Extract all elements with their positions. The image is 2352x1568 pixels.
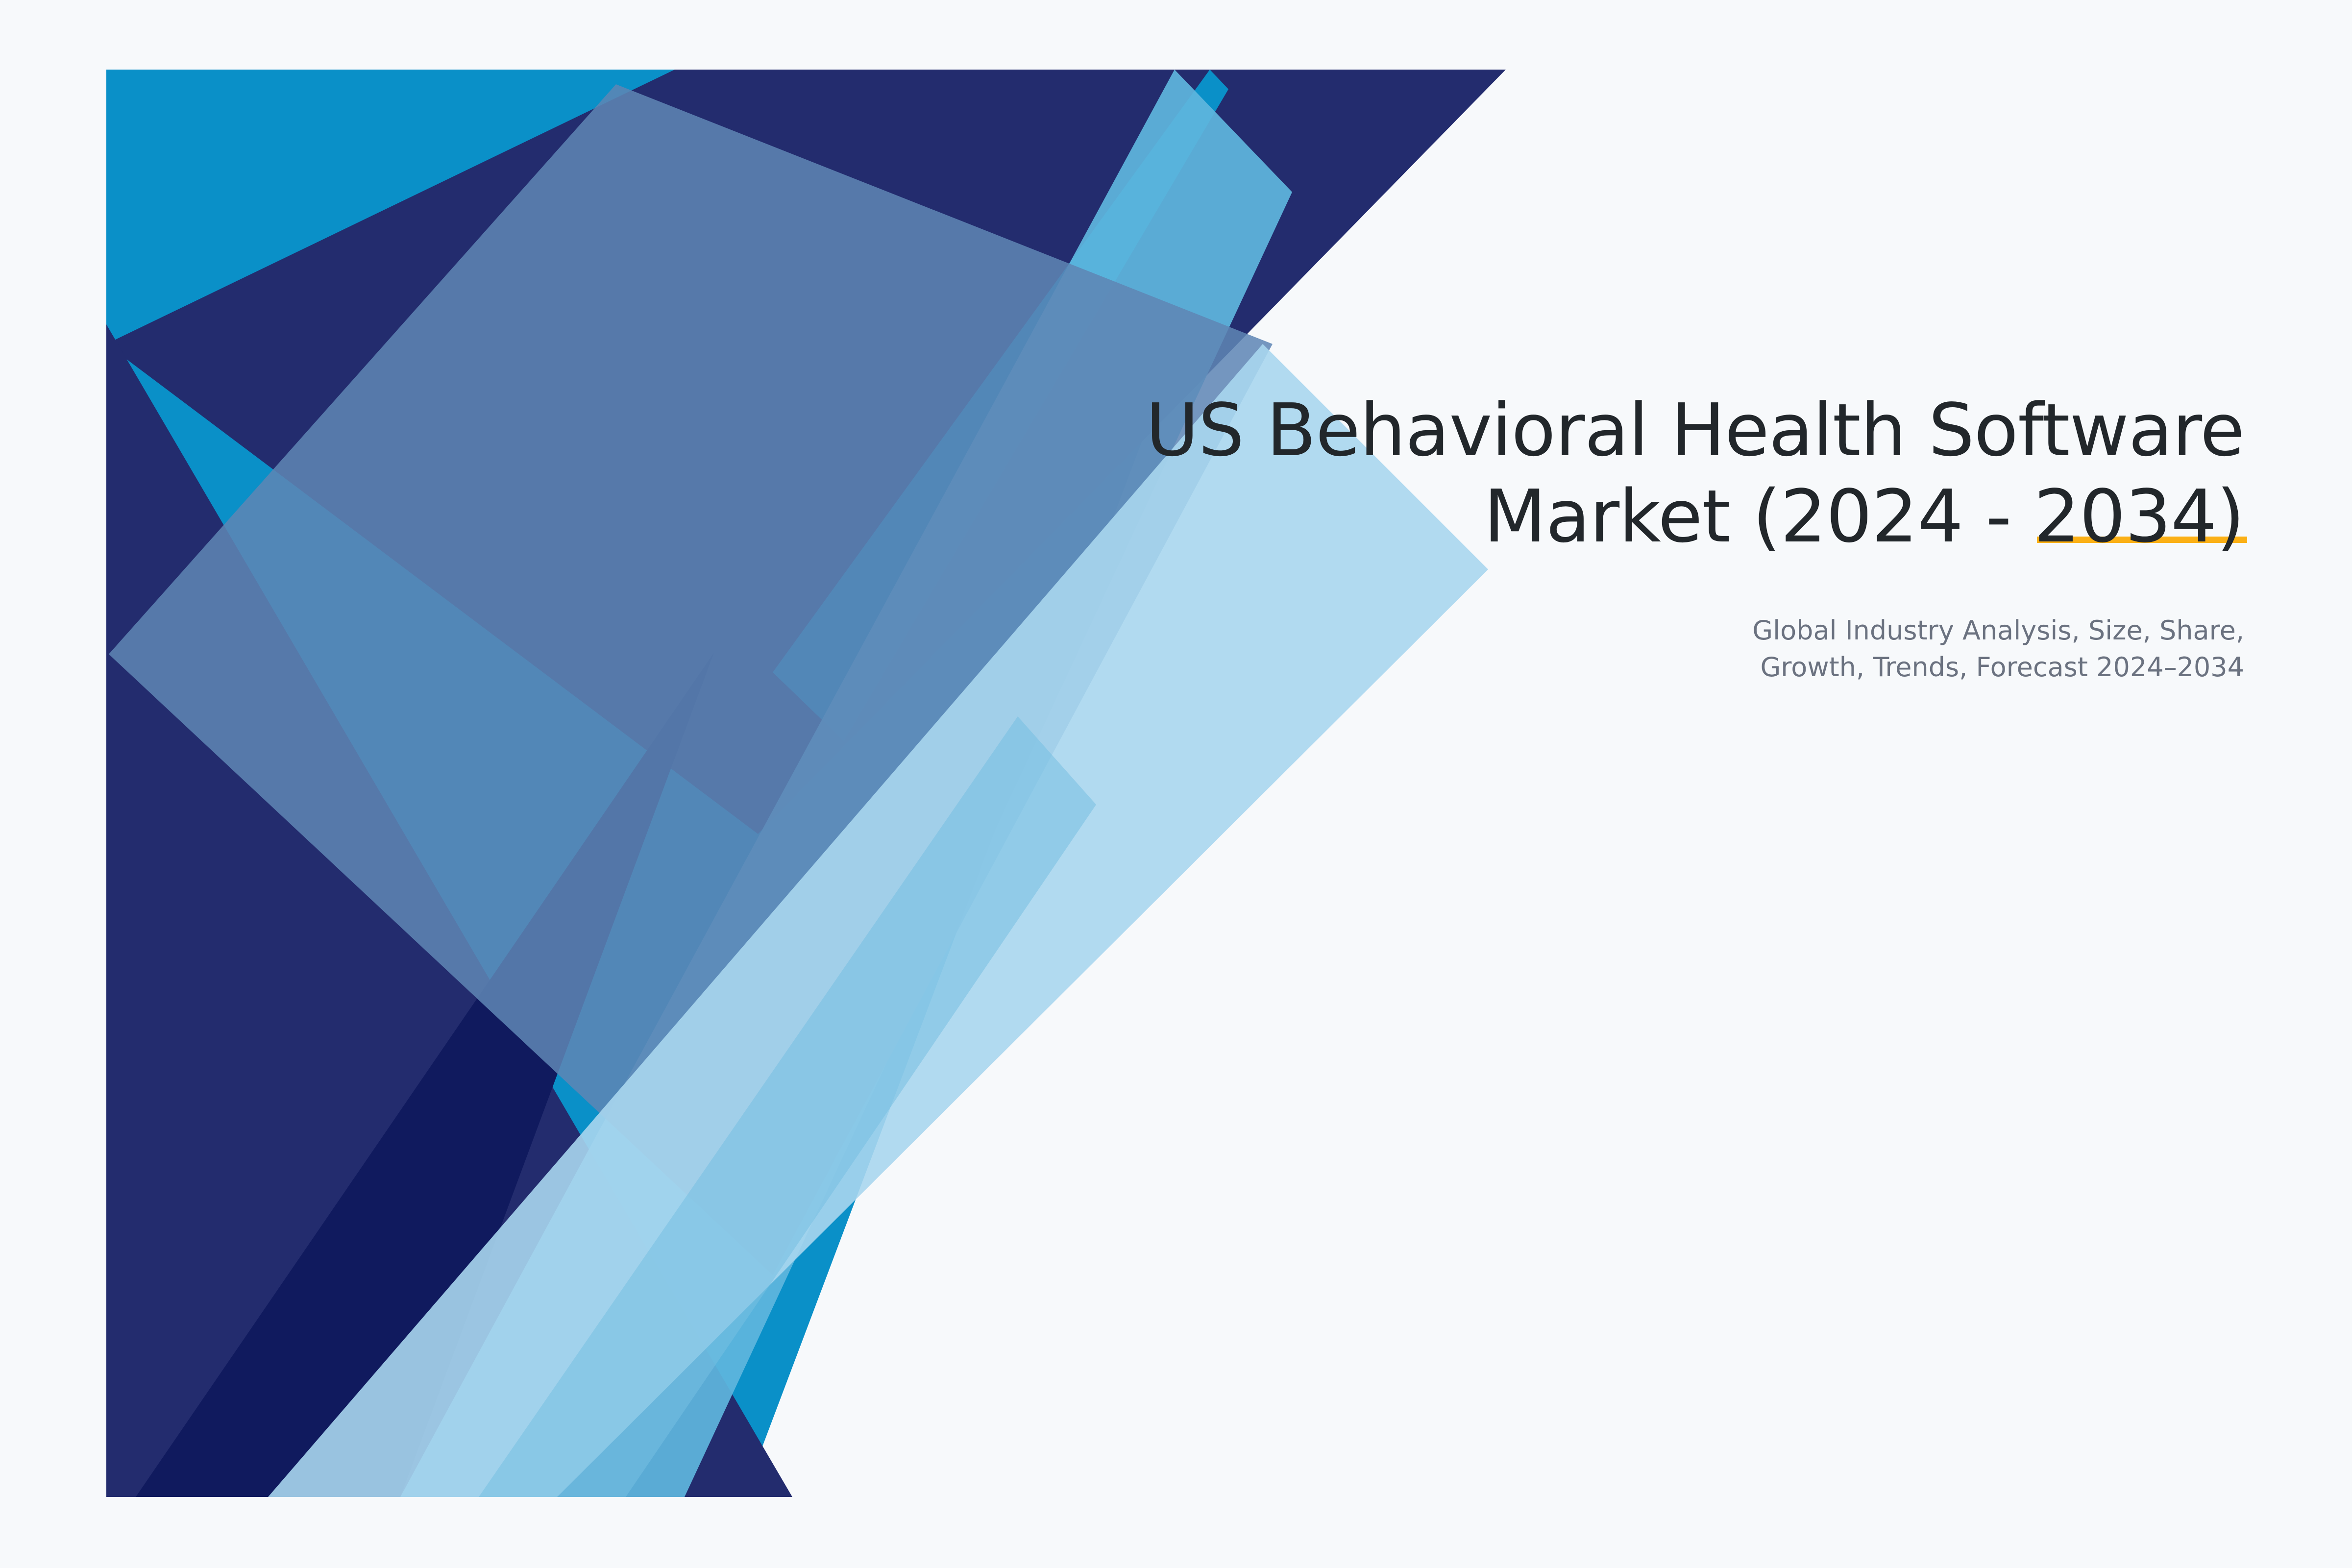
deep-navy-spike-shape [136, 653, 714, 1497]
geometric-artwork-svg [106, 70, 1506, 1497]
light-sky-accent-shape [479, 716, 1096, 1497]
sky-blue-sweep-shape [400, 70, 1292, 1497]
title-accent-group: 2034) [2034, 473, 2244, 560]
artwork-panel [106, 70, 1506, 1497]
title-line-2-accented: 2034) [2034, 474, 2244, 559]
page-subtitle: Global Industry Analysis, Size, Share,Gr… [1607, 612, 2244, 686]
subtitle-line-2: Growth, Trends, Forecast 2024–2034 [1760, 652, 2244, 683]
subtitle-line-1: Global Industry Analysis, Size, Share, [1752, 615, 2244, 646]
navy-lower-body-shape [106, 324, 792, 1497]
title-line-1: US Behavioral Health Software [1146, 388, 2244, 472]
cover-text-block: US Behavioral Health SoftwareMarket (202… [1009, 387, 2244, 686]
cyan-field-shape [106, 70, 1282, 1497]
cover-page: US Behavioral Health SoftwareMarket (202… [0, 0, 2352, 1568]
page-title: US Behavioral Health SoftwareMarket (202… [1009, 387, 2244, 560]
title-line-2-prefix: Market (2024 - [1484, 474, 2034, 559]
